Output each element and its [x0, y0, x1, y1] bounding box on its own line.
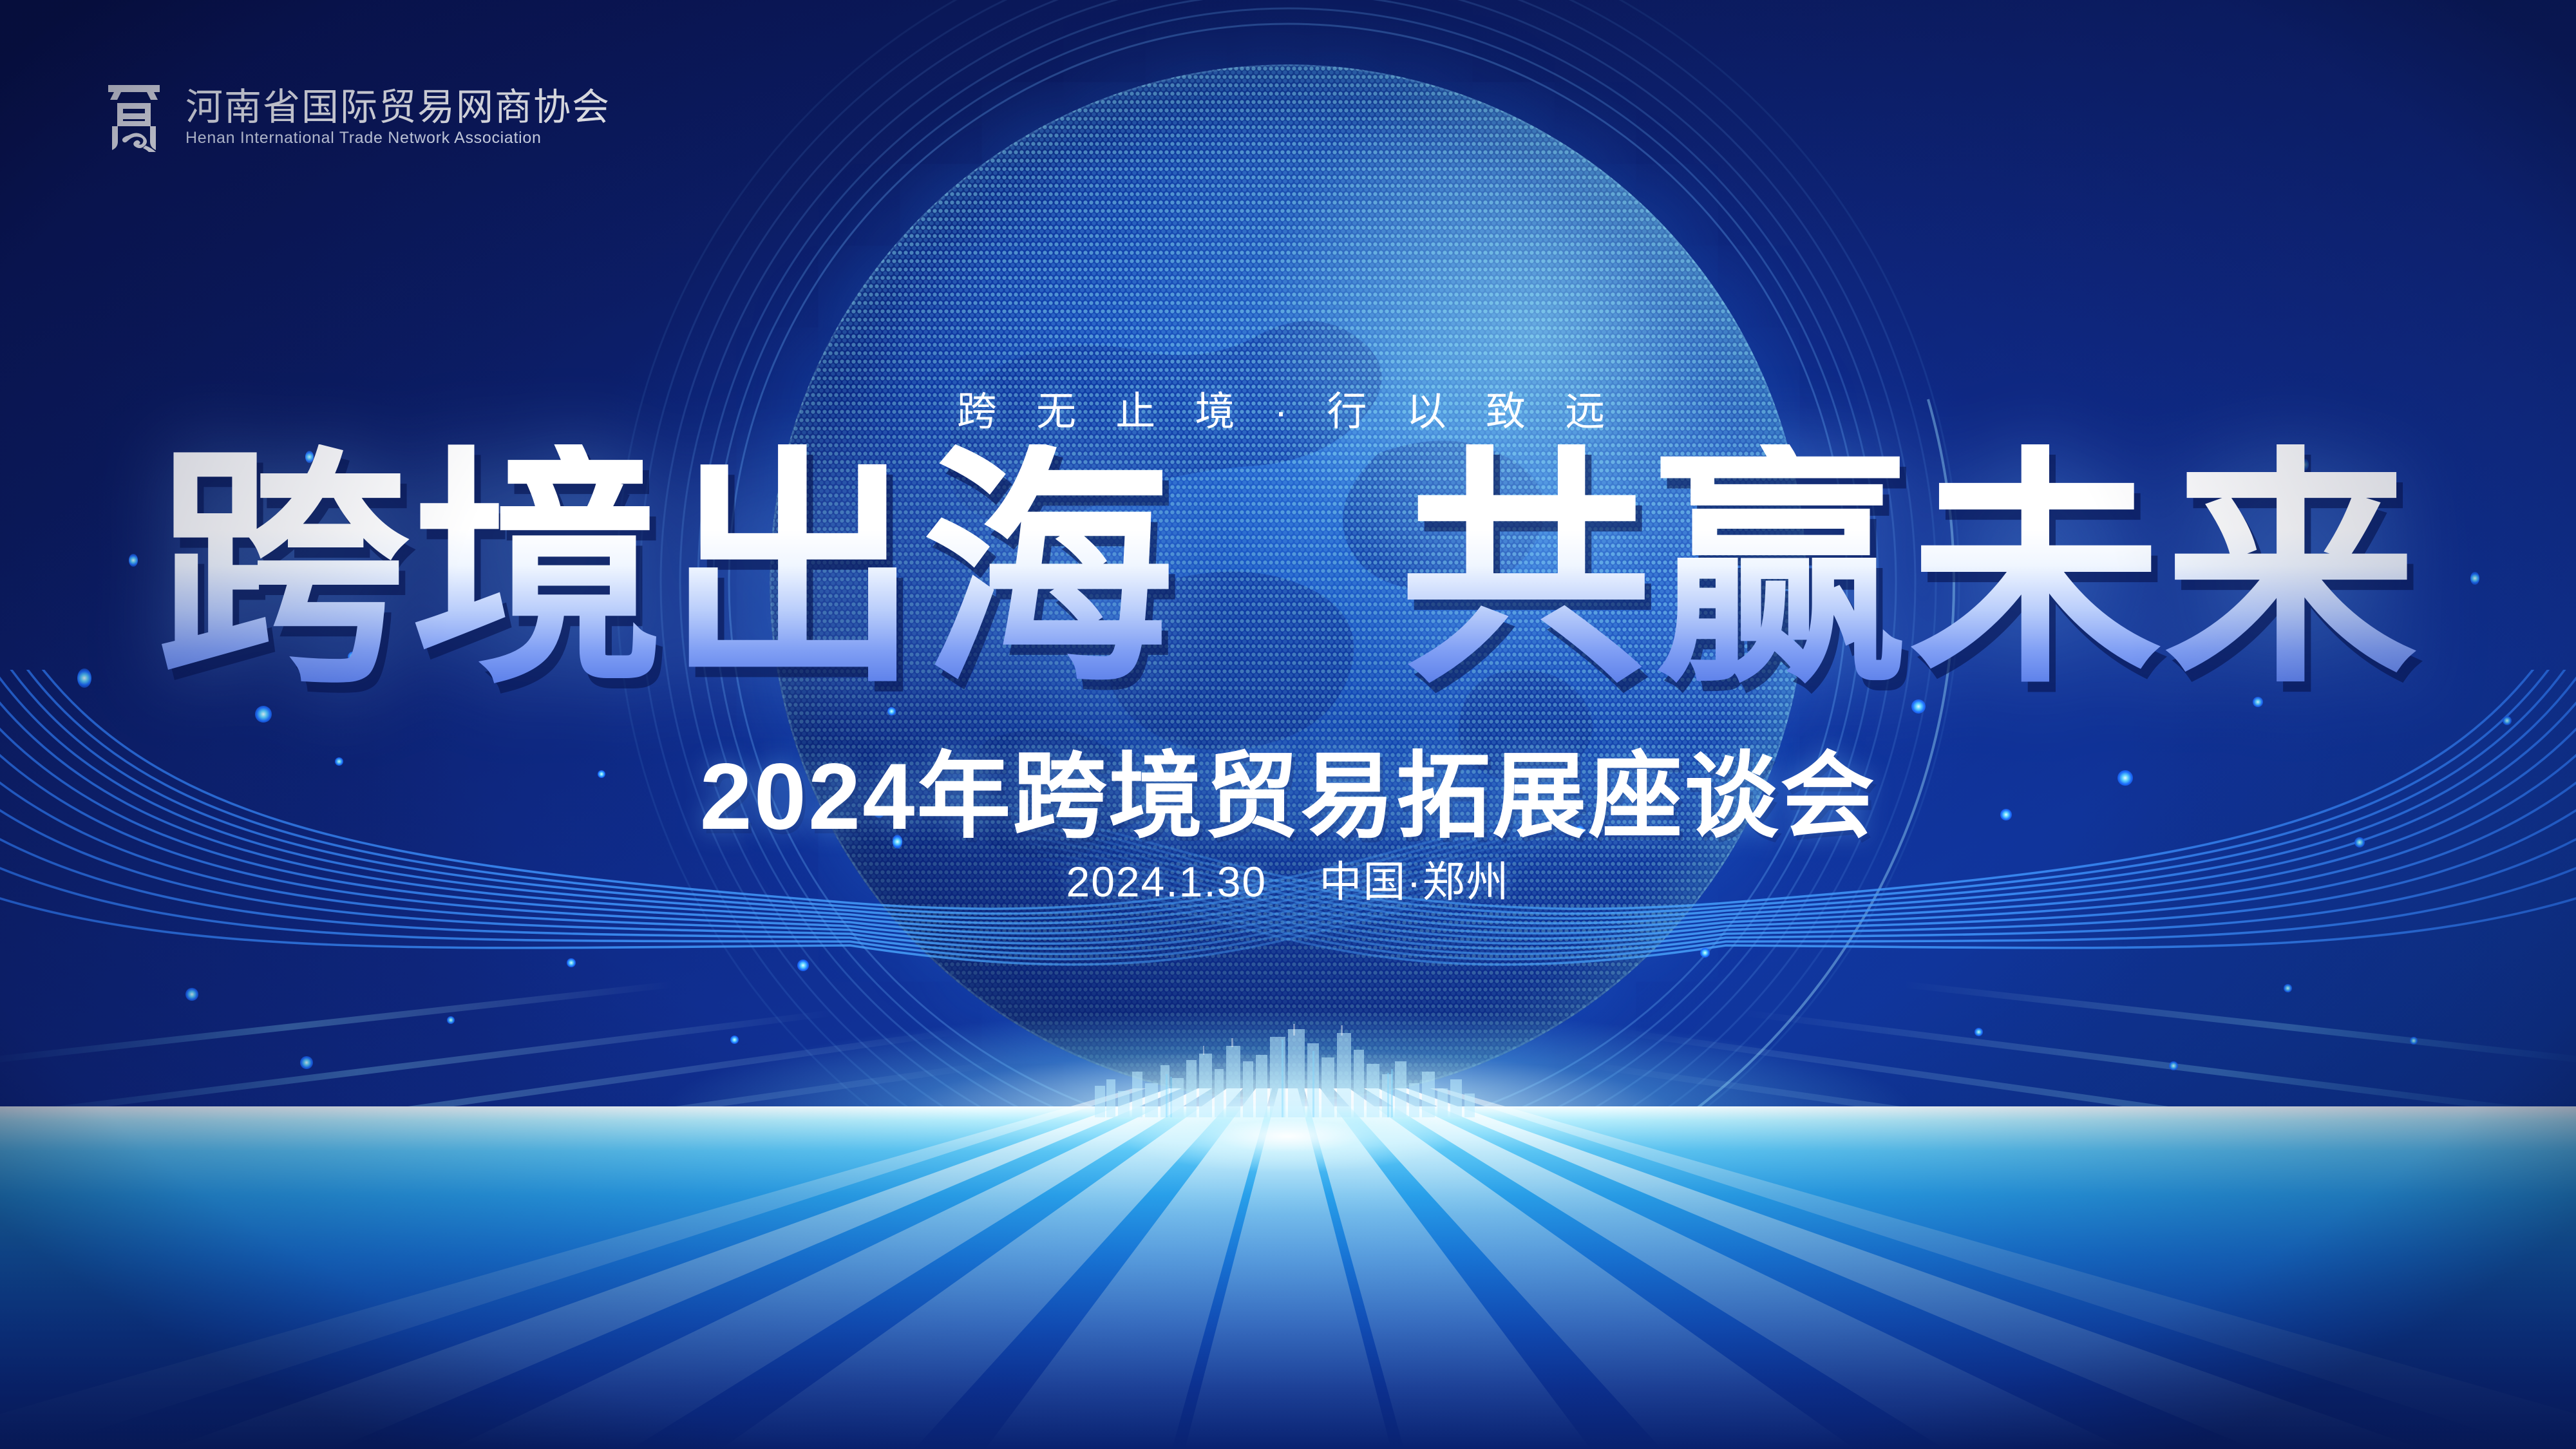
- event-dateline: 2024.1.30 中国·郑州: [0, 858, 2576, 905]
- event-headline: 跨境出海 共赢未来: [0, 444, 2576, 697]
- event-tagline: 跨 无 止 境 · 行 以 致 远: [0, 379, 2576, 437]
- event-date: 2024.1.30: [1066, 858, 1267, 905]
- logo-organization-cn: 河南省国际贸易网商协会: [185, 89, 611, 126]
- logo-organization-en: Henan International Trade Network Associ…: [185, 130, 611, 146]
- headline-part-right: 共赢未来: [1399, 430, 2420, 712]
- event-subtitle: 2024年跨境贸易拓展座谈会: [0, 747, 2576, 846]
- city-skyline-icon: [1088, 1024, 1488, 1117]
- association-logo[interactable]: 河南省国际贸易网商协会 Henan International Trade Ne…: [103, 81, 611, 153]
- poster-canvas: 河南省国际贸易网商协会 Henan International Trade Ne…: [0, 0, 2576, 1449]
- headline-part-left: 跨境出海: [156, 430, 1177, 712]
- henan-seal-logo-icon: [103, 81, 165, 153]
- event-location: 中国·郑州: [1320, 858, 1510, 905]
